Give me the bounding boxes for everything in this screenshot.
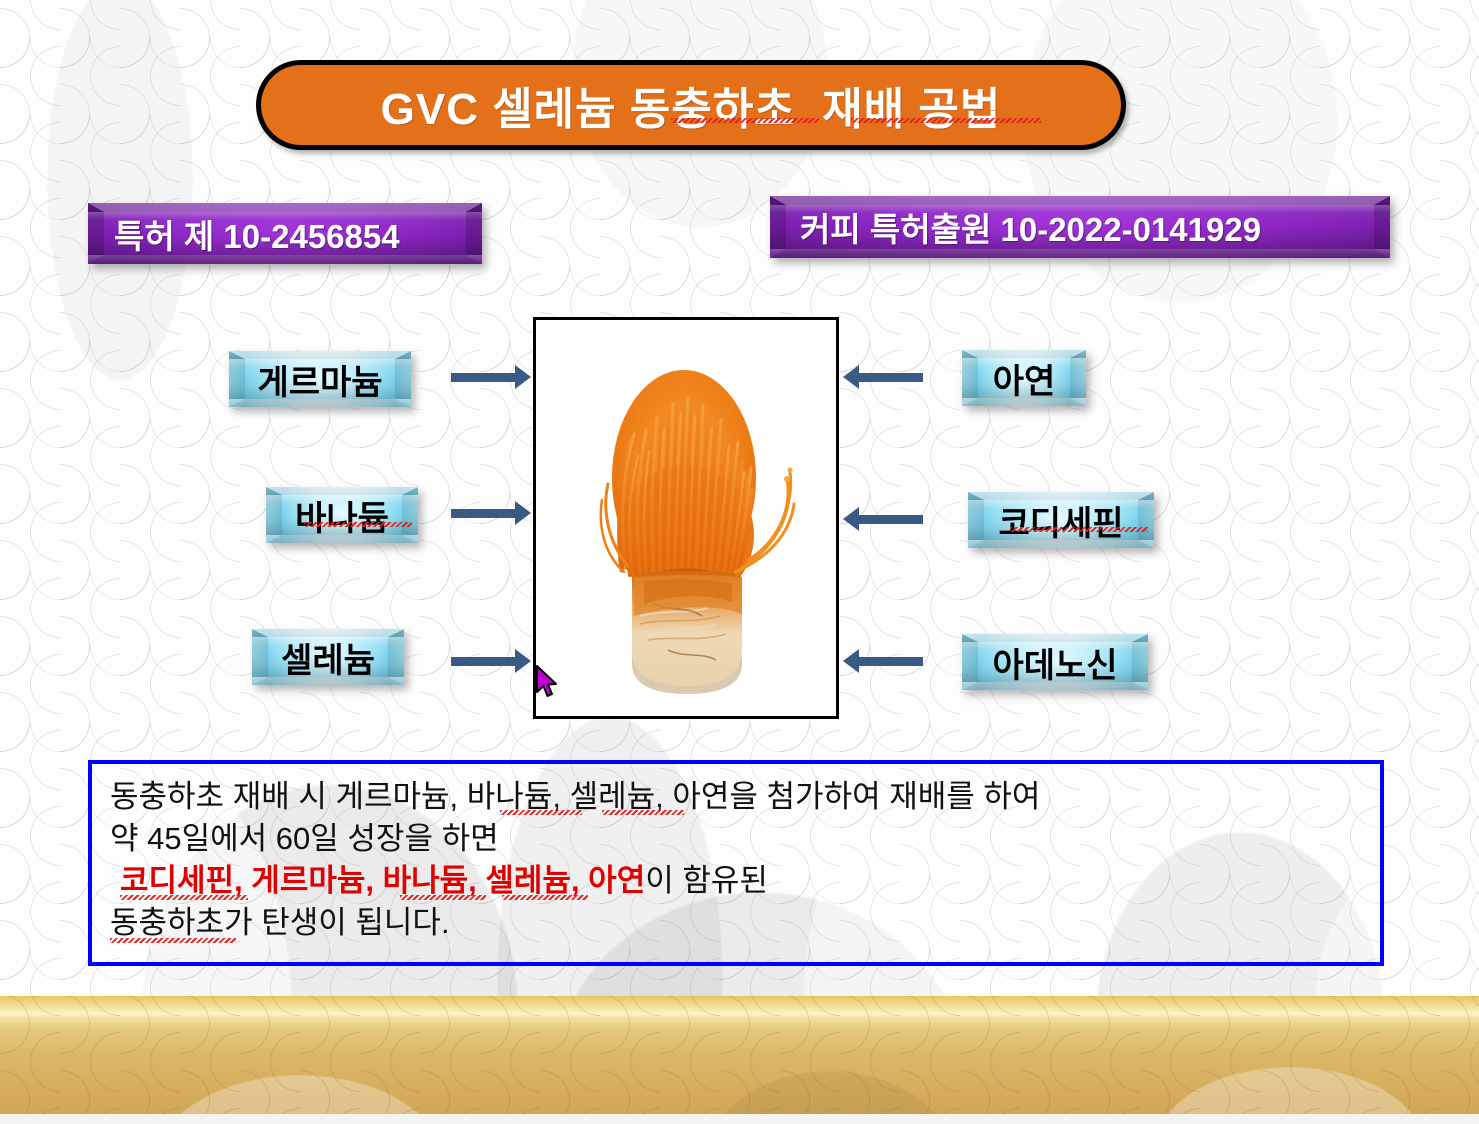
bottom-edge-strip bbox=[0, 1114, 1479, 1124]
ingredient-label-vanadium: 바나듐 bbox=[295, 491, 389, 540]
description-line-4: 동충하초가 탄생이 됩니다. bbox=[110, 902, 1380, 944]
description-line-3-highlight: 코디세핀, 게르마늄, 바나듐, 셀레늄, 아연 bbox=[120, 863, 645, 898]
arrow-left-zinc bbox=[843, 364, 923, 390]
description-line-2-text: 약 45일에서 60일 성장을 하면 bbox=[110, 821, 499, 856]
description-line-3-rest: 이 함유된 bbox=[645, 863, 768, 898]
arrow-right-selenium bbox=[451, 648, 531, 674]
description-line-1-text: 동충하초 재배 시 게르마늄, 바나듐, 셀레늄, 아연을 첨가하여 재배를 하… bbox=[110, 779, 1040, 814]
description-line-2: 약 45일에서 60일 성장을 하면 bbox=[110, 818, 1380, 860]
arrow-left-adenosine bbox=[843, 648, 923, 674]
ingredient-label-adenosine: 아데노신 bbox=[992, 638, 1117, 687]
arrow-right-vanadium bbox=[451, 500, 531, 526]
slide-canvas: GVC 셀레늄 동충하초 재배 공법 특허 제 10-2456854 커피 특허… bbox=[0, 0, 1479, 1124]
ingredient-plate-selenium: 셀레늄 bbox=[252, 629, 404, 685]
ingredient-plate-adenosine: 아데노신 bbox=[962, 634, 1148, 690]
description-box: 동충하초 재배 시 게르마늄, 바나듐, 셀레늄, 아연을 첨가하여 재배를 하… bbox=[88, 760, 1384, 966]
ingredient-label-selenium: 셀레늄 bbox=[281, 633, 375, 682]
arrow-right-germanium bbox=[451, 364, 531, 390]
cordyceps-photo-frame bbox=[533, 317, 839, 719]
patent-badge-right-label: 커피 특허출원 10-2022-0141929 bbox=[800, 203, 1261, 251]
description-line-4-text: 동충하초가 탄생이 됩니다. bbox=[110, 905, 450, 940]
ingredient-label-zinc: 아연 bbox=[993, 354, 1056, 403]
ingredient-label-germanium: 게르마늄 bbox=[257, 355, 382, 404]
description-line-3: 코디세핀, 게르마늄, 바나듐, 셀레늄, 아연이 함유된 bbox=[110, 860, 1380, 902]
patent-badge-right: 커피 특허출원 10-2022-0141929 bbox=[770, 196, 1390, 258]
ingredient-plate-zinc: 아연 bbox=[962, 350, 1086, 406]
ingredient-label-cordycepin: 코디세핀 bbox=[998, 496, 1123, 545]
patent-badge-left: 특허 제 10-2456854 bbox=[88, 203, 482, 264]
ingredient-plate-germanium: 게르마늄 bbox=[229, 351, 411, 407]
arrow-left-cordycepin bbox=[843, 506, 923, 532]
bottom-gold-net-pattern bbox=[0, 996, 1479, 1124]
cordyceps-photo bbox=[536, 320, 836, 716]
ingredient-plate-cordycepin: 코디세핀 bbox=[968, 492, 1154, 548]
ingredient-plate-vanadium: 바나듐 bbox=[266, 487, 418, 543]
description-line-1: 동충하초 재배 시 게르마늄, 바나듐, 셀레늄, 아연을 첨가하여 재배를 하… bbox=[110, 776, 1380, 818]
title-banner: GVC 셀레늄 동충하초 재배 공법 bbox=[256, 60, 1126, 150]
patent-badge-left-label: 특허 제 10-2456854 bbox=[114, 210, 400, 258]
page-title: GVC 셀레늄 동충하초 재배 공법 bbox=[381, 73, 1002, 137]
